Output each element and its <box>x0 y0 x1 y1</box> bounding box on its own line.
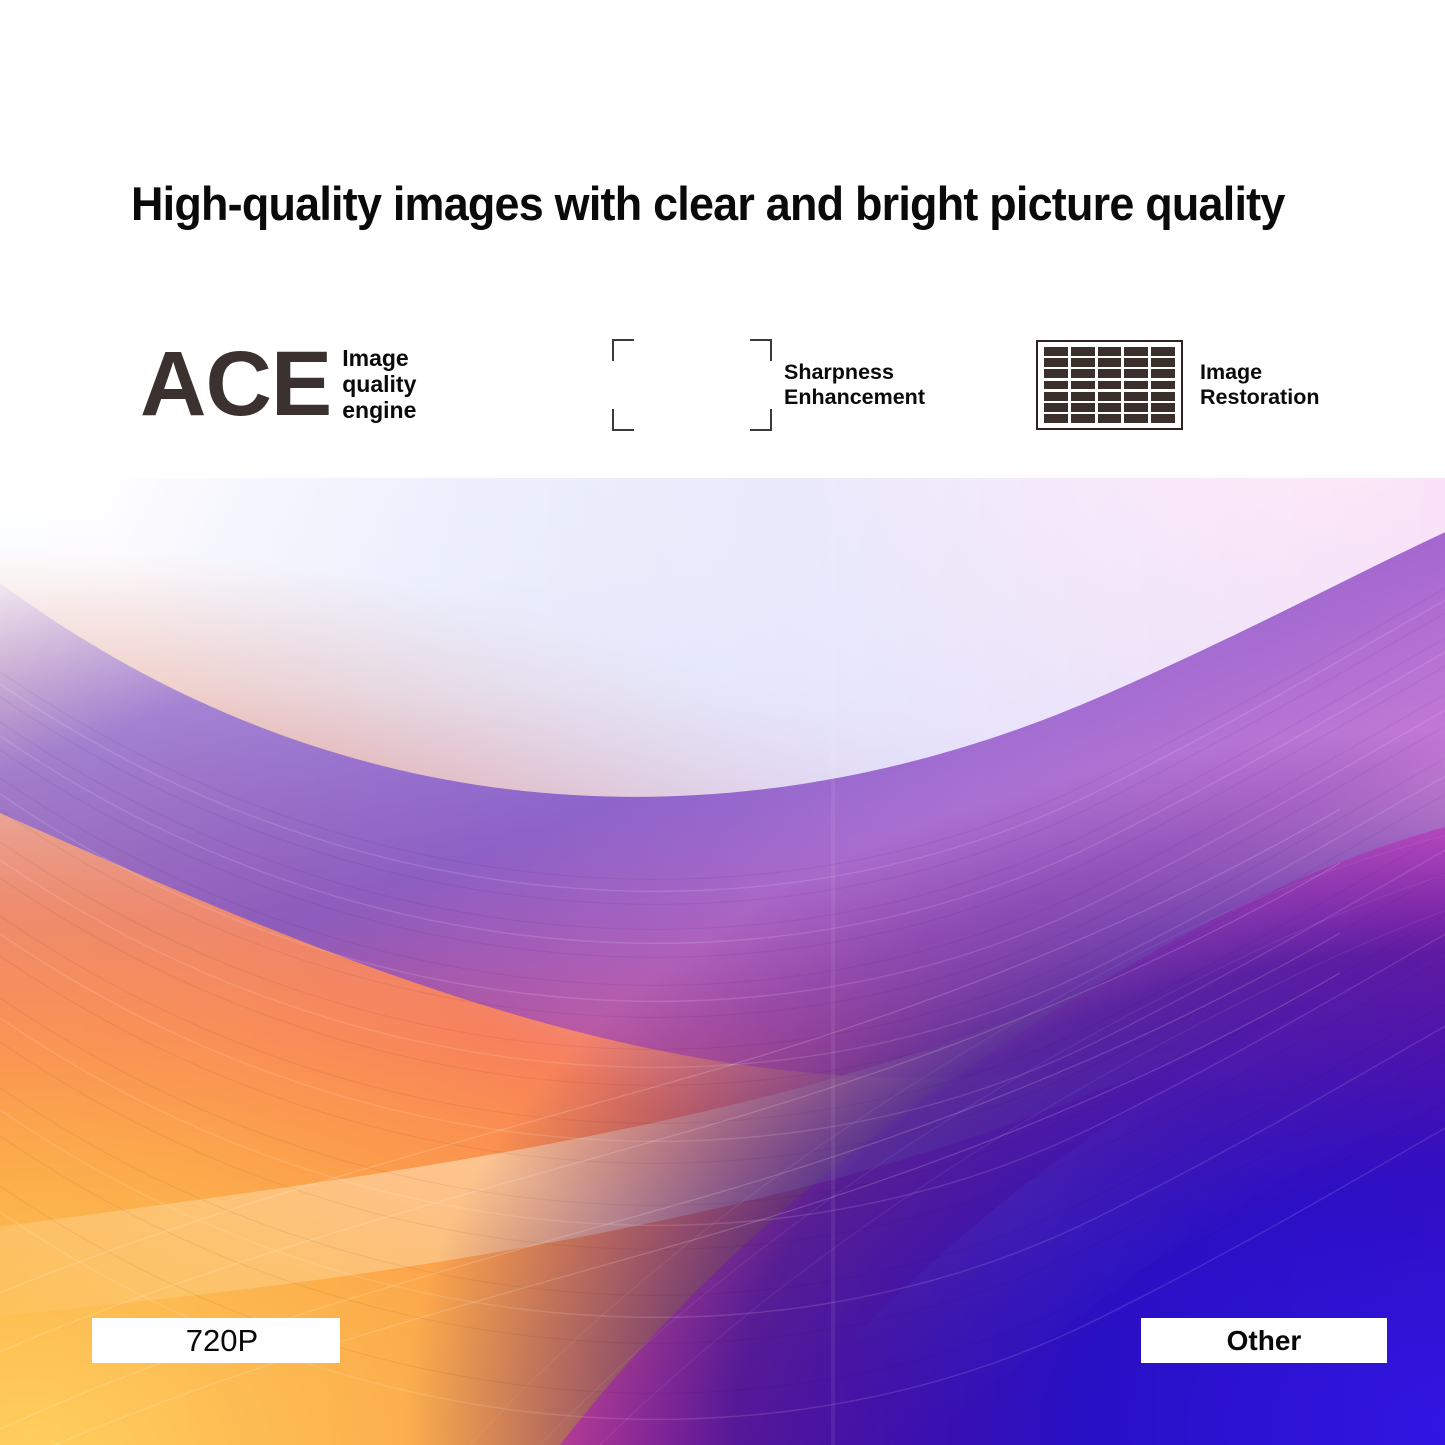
pixel-grid-cell <box>1098 392 1122 401</box>
pixel-grid-cell <box>1044 414 1068 423</box>
pixel-grid-cell <box>1124 381 1148 390</box>
pixel-grid-cell <box>1071 403 1095 412</box>
pixel-grid-cell <box>1044 392 1068 401</box>
page-title: High-quality images with clear and brigh… <box>131 180 1277 227</box>
pixel-grid-cell <box>1044 358 1068 367</box>
abstract-gradient-artwork <box>0 478 1445 1445</box>
feature-label-sharpness-enhancement: Sharpness Enhancement <box>784 360 925 410</box>
focus-corner-top-right-icon <box>750 339 772 361</box>
pixel-grid-cell <box>1098 403 1122 412</box>
pixel-grid-cell <box>1071 414 1095 423</box>
focus-frame-icon <box>612 339 772 431</box>
pixel-grid-cell <box>1098 369 1122 378</box>
pixel-grid-cell <box>1151 414 1175 423</box>
pixel-grid-cell <box>1124 358 1148 367</box>
pixel-grid-cell <box>1071 392 1095 401</box>
pixel-grid-icon <box>1036 340 1183 430</box>
pixel-grid-cell <box>1124 414 1148 423</box>
focus-corner-bottom-left-icon <box>612 409 634 431</box>
label-720p: 720P <box>92 1318 340 1363</box>
pixel-grid-cell <box>1151 358 1175 367</box>
feature-ace-engine: ACE Image quality engine <box>140 330 416 440</box>
pixel-grid-cell <box>1071 381 1095 390</box>
pixel-grid-cell <box>1071 358 1095 367</box>
pixel-grid-cell <box>1124 403 1148 412</box>
pixel-grid-cell <box>1098 358 1122 367</box>
pixel-grid-cell <box>1044 381 1068 390</box>
pixel-grid-cell <box>1151 347 1175 356</box>
pixel-grid-cell <box>1124 369 1148 378</box>
feature-image-restoration: Image Restoration <box>1036 330 1319 440</box>
pixel-grid-cell <box>1151 392 1175 401</box>
pixel-grid-cell <box>1098 381 1122 390</box>
pixel-grid-cell <box>1124 392 1148 401</box>
feature-sharpness-enhancement: Sharpness Enhancement <box>612 330 925 440</box>
focus-corner-top-left-icon <box>612 339 634 361</box>
label-other: Other <box>1141 1318 1387 1363</box>
feature-label-image-restoration: Image Restoration <box>1200 360 1319 410</box>
pixel-grid-cell <box>1098 347 1122 356</box>
pixel-grid-cell <box>1044 369 1068 378</box>
feature-row: ACE Image quality engine Sharpness Enhan… <box>0 330 1445 440</box>
pixel-grid-cell <box>1071 347 1095 356</box>
comparison-divider <box>831 478 835 1445</box>
pixel-grid-cell <box>1151 403 1175 412</box>
pixel-grid-cell <box>1044 347 1068 356</box>
promo-banner: High-quality images with clear and brigh… <box>0 0 1445 1445</box>
feature-label-image-quality-engine: Image quality engine <box>342 346 416 423</box>
pixel-grid-cell <box>1044 403 1068 412</box>
pixel-grid-cell <box>1098 414 1122 423</box>
focus-corner-bottom-right-icon <box>750 409 772 431</box>
pixel-grid-cell <box>1071 369 1095 378</box>
comparison-image <box>0 478 1445 1445</box>
pixel-grid-cell <box>1124 347 1148 356</box>
pixel-grid-cell <box>1151 381 1175 390</box>
ace-wordmark: ACE <box>140 347 331 422</box>
pixel-grid-cell <box>1151 369 1175 378</box>
header-section: High-quality images with clear and brigh… <box>0 0 1445 478</box>
